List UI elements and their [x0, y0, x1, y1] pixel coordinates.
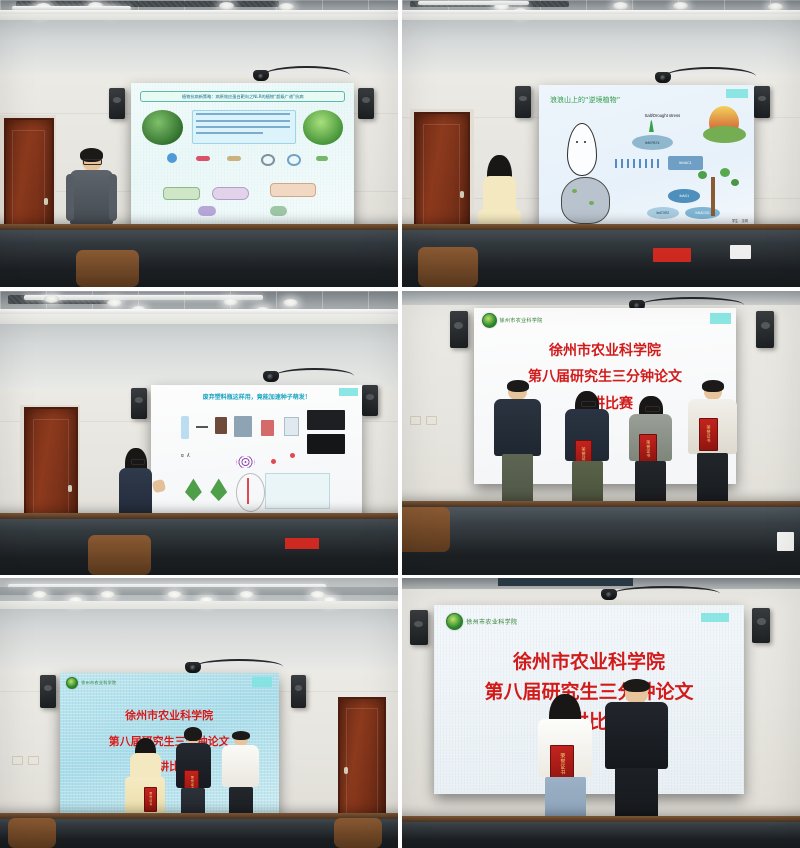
logo-mark-icon — [66, 677, 78, 689]
slide-node: IbMYB74 — [632, 135, 673, 150]
slide-stress-label: Salt/Drought stress — [645, 113, 681, 118]
chair-left — [8, 818, 56, 848]
slide-title: 植物抗病新策略：病原效应蛋白靶向之NLR的植物“超级广谱”抗病 — [140, 91, 345, 102]
wall-speaker-right — [291, 675, 307, 707]
collage-photo-2: 浪浪山上的“逆境植物” Salt/Drought stress IbMYB74 … — [402, 0, 800, 287]
paper-cup — [777, 532, 794, 551]
wall-speaker-right — [358, 88, 374, 120]
teal-tag — [252, 677, 272, 687]
slide-node-3: IbAO1 — [668, 189, 700, 202]
slide-title: 废弃塑料瓶这样用，竟能加速种子萌发！ — [151, 392, 362, 401]
wall-speaker-right — [752, 608, 770, 643]
slide-footnote-1: 学生：沈玥 — [732, 218, 748, 223]
presentation-slide: 浪浪山上的“逆境植物” Salt/Drought stress IbMYB74 … — [539, 85, 754, 234]
slide-title: 浪浪山上的“逆境植物” — [550, 95, 620, 105]
logo-text: 徐州市农业科学院 — [81, 680, 116, 686]
wall-speaker-left — [40, 675, 56, 707]
conference-table — [0, 224, 398, 287]
wall-speaker-left — [410, 610, 428, 645]
certificate-text: 荣誉证书 — [646, 440, 650, 458]
institute-logo: 徐州市农业科学院 — [66, 677, 116, 689]
slide-node-4: IbATXR2 — [647, 207, 679, 219]
teal-tag — [710, 313, 731, 324]
ceiling — [0, 578, 398, 670]
wall-socket — [12, 756, 23, 765]
certificate-text: 荣誉证书 — [706, 425, 710, 443]
ceiling — [402, 0, 800, 75]
wall-speaker-left — [109, 88, 125, 120]
collage-photo-6: 徐州市农业科学院 徐州市农业科学院 第八届研究生三分钟论文 演讲比赛 荣誉证书 — [402, 578, 800, 848]
certificate-text: 荣誉证书 — [149, 792, 152, 806]
certificate-text: 荣誉证书 — [559, 753, 564, 775]
teal-tag — [726, 89, 747, 98]
presentation-slide: 废弃塑料瓶这样用，竟能加速种子萌发！ ɑ ʎ — [151, 385, 362, 527]
chair — [76, 250, 140, 287]
collage-photo-3: 废弃塑料瓶这样用，竟能加速种子萌发！ ɑ ʎ — [0, 291, 398, 575]
led-display: 废弃塑料瓶这样用，竟能加速种子萌发！ ɑ ʎ — [151, 385, 362, 527]
certificate: 荣誉证书 — [699, 418, 718, 451]
table-object-red — [285, 538, 319, 549]
collage-photo-1: 植物抗病新策略：病原效应蛋白靶向之NLR的植物“超级广谱”抗病 — [0, 0, 398, 287]
institute-logo: 徐州市农业科学院 — [446, 613, 517, 630]
teal-tag — [701, 613, 729, 622]
collage-photo-5: 徐州市农业科学院 徐州市农业科学院 第八届研究生三分钟论文 演讲比赛 荣誉证书 — [0, 578, 398, 848]
wall-speaker-left — [515, 86, 531, 118]
gutter-horizontal-2 — [0, 575, 800, 578]
presentation-slide: 植物抗病新策略：病原效应蛋白靶向之NLR的植物“超级广谱”抗病 — [131, 83, 354, 241]
institute-logo: 徐州市农业科学院 — [482, 313, 543, 328]
wall-speaker-right — [362, 385, 378, 416]
award-title-line-1: 徐州市农业科学院 — [434, 647, 744, 674]
paper-cup — [730, 245, 751, 259]
wall-speaker-right — [756, 311, 774, 348]
table-object-red — [653, 248, 692, 262]
logo-mark-icon — [446, 613, 463, 630]
certificate: 荣誉证书 — [144, 787, 157, 812]
wall-speaker-left — [131, 388, 147, 419]
conference-table — [402, 501, 800, 575]
logo-text: 徐州市农业科学院 — [500, 317, 543, 324]
chair — [418, 247, 478, 287]
chair-left — [402, 507, 450, 552]
ceiling — [0, 0, 398, 75]
wall-socket — [410, 416, 421, 425]
led-display: 浪浪山上的“逆境植物” Salt/Drought stress IbMYB74 … — [539, 85, 754, 234]
logo-mark-icon — [482, 313, 497, 328]
photo-collage: 植物抗病新策略：病原效应蛋白靶向之NLR的植物“超级广谱”抗病 — [0, 0, 800, 848]
slide-node-2: IbNAC1 — [668, 156, 702, 169]
award-person-4: 荣誉证书 — [685, 382, 741, 521]
gutter-vertical — [398, 0, 402, 848]
logo-text: 徐州市农业科学院 — [466, 617, 517, 626]
award-title-line-1: 徐州市农业科学院 — [60, 707, 279, 723]
chair — [88, 535, 152, 575]
wall-socket-2 — [28, 756, 39, 765]
led-display: 植物抗病新策略：病原效应蛋白靶向之NLR的植物“超级广谱”抗病 — [131, 83, 354, 241]
chair-right — [334, 818, 382, 848]
conference-table — [0, 513, 398, 575]
wall-speaker-right — [754, 86, 770, 118]
wall-speaker-left — [450, 311, 468, 348]
certificate: 荣誉证书 — [639, 434, 657, 463]
wall-socket-2 — [426, 416, 437, 425]
collage-photo-4: 徐州市农业科学院 徐州市农业科学院 第八届研究生三分钟论文 演讲比赛 — [402, 291, 800, 575]
conference-table — [402, 816, 800, 848]
award-title-line-1: 徐州市农业科学院 — [474, 340, 737, 360]
gutter-horizontal-1 — [0, 287, 800, 291]
